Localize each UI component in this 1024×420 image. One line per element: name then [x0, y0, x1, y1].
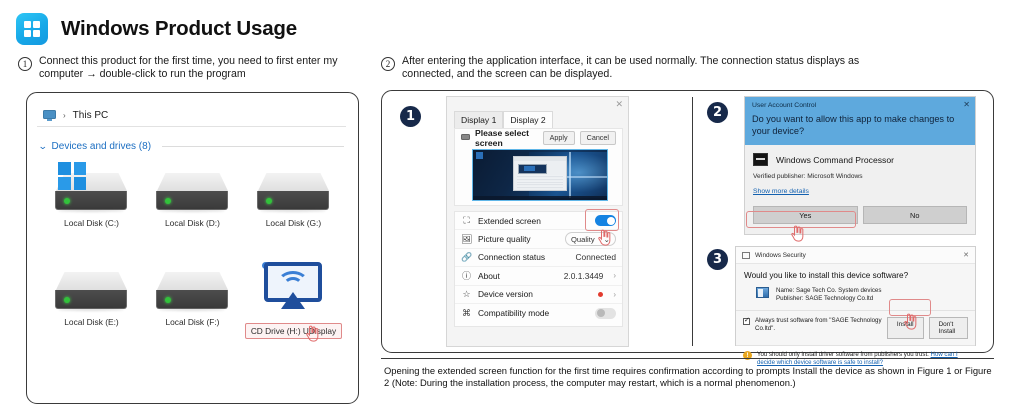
star-icon: ☆: [461, 289, 472, 300]
cast-screen-icon: [262, 262, 324, 317]
setting-connection-status: 🔗 Connection status Connected: [455, 249, 622, 267]
device-name: Name: Sage Tech Co. System devices: [776, 287, 881, 294]
extend-screen-icon: ⛶: [461, 215, 472, 226]
page-title: Windows Product Usage: [61, 17, 297, 41]
pointer-hand-icon: [597, 228, 612, 246]
image-icon: 🖼: [461, 234, 472, 245]
drive-item-g[interactable]: Local Disk (G:): [243, 163, 344, 228]
drive-label: Local Disk (E:): [64, 317, 118, 327]
pointer-hand-icon: [790, 224, 805, 242]
chevron-down-icon: ⌄: [38, 141, 48, 152]
pointer-hand-icon: [305, 324, 320, 342]
picture-quality-value: Quality: [571, 235, 595, 244]
setting-label: Device version: [478, 289, 533, 299]
setting-label: Extended screen: [478, 216, 541, 226]
note-divider: [381, 358, 994, 359]
always-trust-label: Always trust software from "SAGE Technol…: [755, 317, 882, 333]
monitor-icon: [43, 110, 56, 121]
breadcrumb[interactable]: › This PC: [37, 105, 346, 127]
security-title: Windows Security: [755, 252, 806, 259]
uac-question: Do you want to allow this app to make ch…: [752, 113, 968, 137]
compatibility-mode-toggle[interactable]: [595, 308, 616, 319]
uac-publisher: Verified publisher: Microsoft Windows: [753, 173, 967, 180]
tab-display-1[interactable]: Display 1: [454, 111, 503, 128]
apply-button[interactable]: Apply: [543, 131, 575, 145]
drive-label: Local Disk (D:): [165, 218, 220, 228]
setting-label: Picture quality: [478, 234, 531, 244]
connection-status-value: Connected: [575, 252, 616, 262]
dont-install-button[interactable]: Don't Install: [929, 317, 968, 339]
windows-logo-icon: [16, 13, 48, 45]
device-publisher: Publisher: SAGE Technology Co.ltd: [776, 295, 873, 302]
security-device-row: Name: Sage Tech Co. System devices Publi…: [736, 280, 975, 310]
drive-label-highlighted: CD Drive (H:) UDisplay: [245, 323, 342, 339]
trust-row: Always trust software from "SAGE Technol…: [736, 311, 975, 345]
drive-label: Local Disk (G:): [266, 218, 321, 228]
security-question: Would you like to install this device so…: [736, 264, 975, 280]
setting-label: Compatibility mode: [478, 308, 549, 318]
drive-item-e[interactable]: Local Disk (E:): [41, 262, 142, 339]
step-2-caption: 2 After entering the application interfa…: [381, 55, 861, 81]
select-screen-header: Please select screen Apply Cancel: [455, 129, 622, 146]
windows-logo-icon: [58, 162, 86, 190]
breadcrumb-chevron-icon: ›: [63, 111, 66, 120]
group-divider: [162, 146, 344, 147]
link-icon: 🔗: [461, 252, 472, 263]
panel-divider: [692, 97, 693, 346]
drives-grid: Local Disk (C:) Local Disk (D:) Local Di…: [41, 163, 344, 339]
step-1-caption: 1 Connect this product for the first tim…: [18, 55, 363, 81]
setting-label: About: [478, 271, 500, 281]
windows-security-dialog: Windows Security ✕ Would you like to ins…: [735, 246, 976, 346]
drives-row: Local Disk (E:) Local Disk (F:) CD Drive…: [41, 262, 344, 339]
page-header: Windows Product Usage: [16, 13, 297, 45]
hard-drive-icon: [257, 163, 329, 211]
bottom-note: Opening the extended screen function for…: [384, 365, 996, 389]
pointer-hand-icon: [903, 312, 918, 330]
select-screen-label: Please select screen: [475, 128, 533, 148]
screen-preview-thumbnail[interactable]: [472, 149, 608, 201]
marker-2: 2: [707, 102, 728, 123]
marker-3: 3: [707, 249, 728, 270]
cancel-button[interactable]: Cancel: [580, 131, 616, 145]
drive-item-h-udisplay[interactable]: CD Drive (H:) UDisplay: [243, 262, 344, 339]
explorer-panel: › This PC ⌄ Devices and drives (8) Local…: [26, 92, 359, 404]
uac-no-button[interactable]: No: [863, 206, 968, 224]
breadcrumb-label: This PC: [73, 110, 109, 121]
uac-app-row: Windows Command Processor: [753, 153, 967, 166]
step-2-text: After entering the application interface…: [402, 55, 861, 81]
step-1-number: 1: [18, 57, 32, 71]
step-2-number: 2: [381, 57, 395, 71]
close-icon[interactable]: ✕: [963, 251, 969, 259]
about-value: 2.0.1.3449: [564, 271, 604, 281]
always-trust-checkbox[interactable]: [743, 318, 750, 325]
screen-icon: [461, 134, 470, 142]
setting-device-version[interactable]: ☆ Device version ›: [455, 286, 622, 304]
uac-title: User Account Control: [752, 102, 968, 109]
command-icon: ⌘: [461, 308, 472, 319]
setting-label: Connection status: [478, 252, 545, 262]
devices-and-drives-label: Devices and drives (8): [52, 141, 151, 152]
step-1-text: Connect this product for the first time,…: [39, 55, 363, 81]
drive-label: Local Disk (F:): [165, 317, 219, 327]
close-icon[interactable]: ✕: [963, 100, 970, 109]
devices-and-drives-group[interactable]: ⌄ Devices and drives (8): [39, 141, 344, 152]
drive-item-c[interactable]: Local Disk (C:): [41, 163, 142, 228]
hard-drive-icon: [156, 262, 228, 310]
display-dialog: ✕ Display 1 Display 2 Please select scre…: [446, 96, 629, 347]
security-device-info: Name: Sage Tech Co. System devices Publi…: [776, 287, 881, 302]
drive-label: Local Disk (C:): [64, 218, 119, 228]
show-more-details-link[interactable]: Show more details: [753, 188, 809, 195]
update-available-dot: [598, 292, 603, 297]
uac-header: ✕ User Account Control Do you want to al…: [745, 97, 975, 145]
chevron-right-icon: ›: [613, 290, 616, 299]
hard-drive-icon: [55, 262, 127, 310]
hard-drive-icon: [156, 163, 228, 211]
drive-item-d[interactable]: Local Disk (D:): [142, 163, 243, 228]
device-driver-icon: [756, 287, 769, 298]
command-prompt-icon: [753, 153, 768, 166]
window-icon: [742, 252, 750, 259]
close-icon[interactable]: ✕: [615, 99, 623, 110]
info-icon: ⓘ: [461, 269, 472, 282]
drives-row: Local Disk (C:) Local Disk (D:) Local Di…: [41, 163, 344, 228]
hard-drive-icon: [55, 163, 127, 211]
drive-item-f[interactable]: Local Disk (F:): [142, 262, 243, 339]
uac-app-name: Windows Command Processor: [776, 155, 894, 165]
dialog-tabs: Display 1 Display 2: [454, 111, 553, 128]
security-header: Windows Security ✕: [736, 247, 975, 264]
security-buttons: Install Don't Install: [887, 317, 968, 339]
setting-compatibility-mode[interactable]: ⌘ Compatibility mode: [455, 304, 622, 322]
tab-display-2[interactable]: Display 2: [503, 111, 552, 128]
page-root: Windows Product Usage 1 Connect this pro…: [0, 0, 1024, 420]
chevron-right-icon: ›: [613, 271, 616, 280]
marker-1: 1: [400, 106, 421, 127]
setting-about[interactable]: ⓘ About 2.0.1.3449 ›: [455, 267, 622, 285]
screens-panel: 1 2 3 ✕ Display 1 Display 2 Please selec…: [381, 90, 994, 353]
select-screen-card: Please select screen Apply Cancel: [454, 128, 623, 206]
